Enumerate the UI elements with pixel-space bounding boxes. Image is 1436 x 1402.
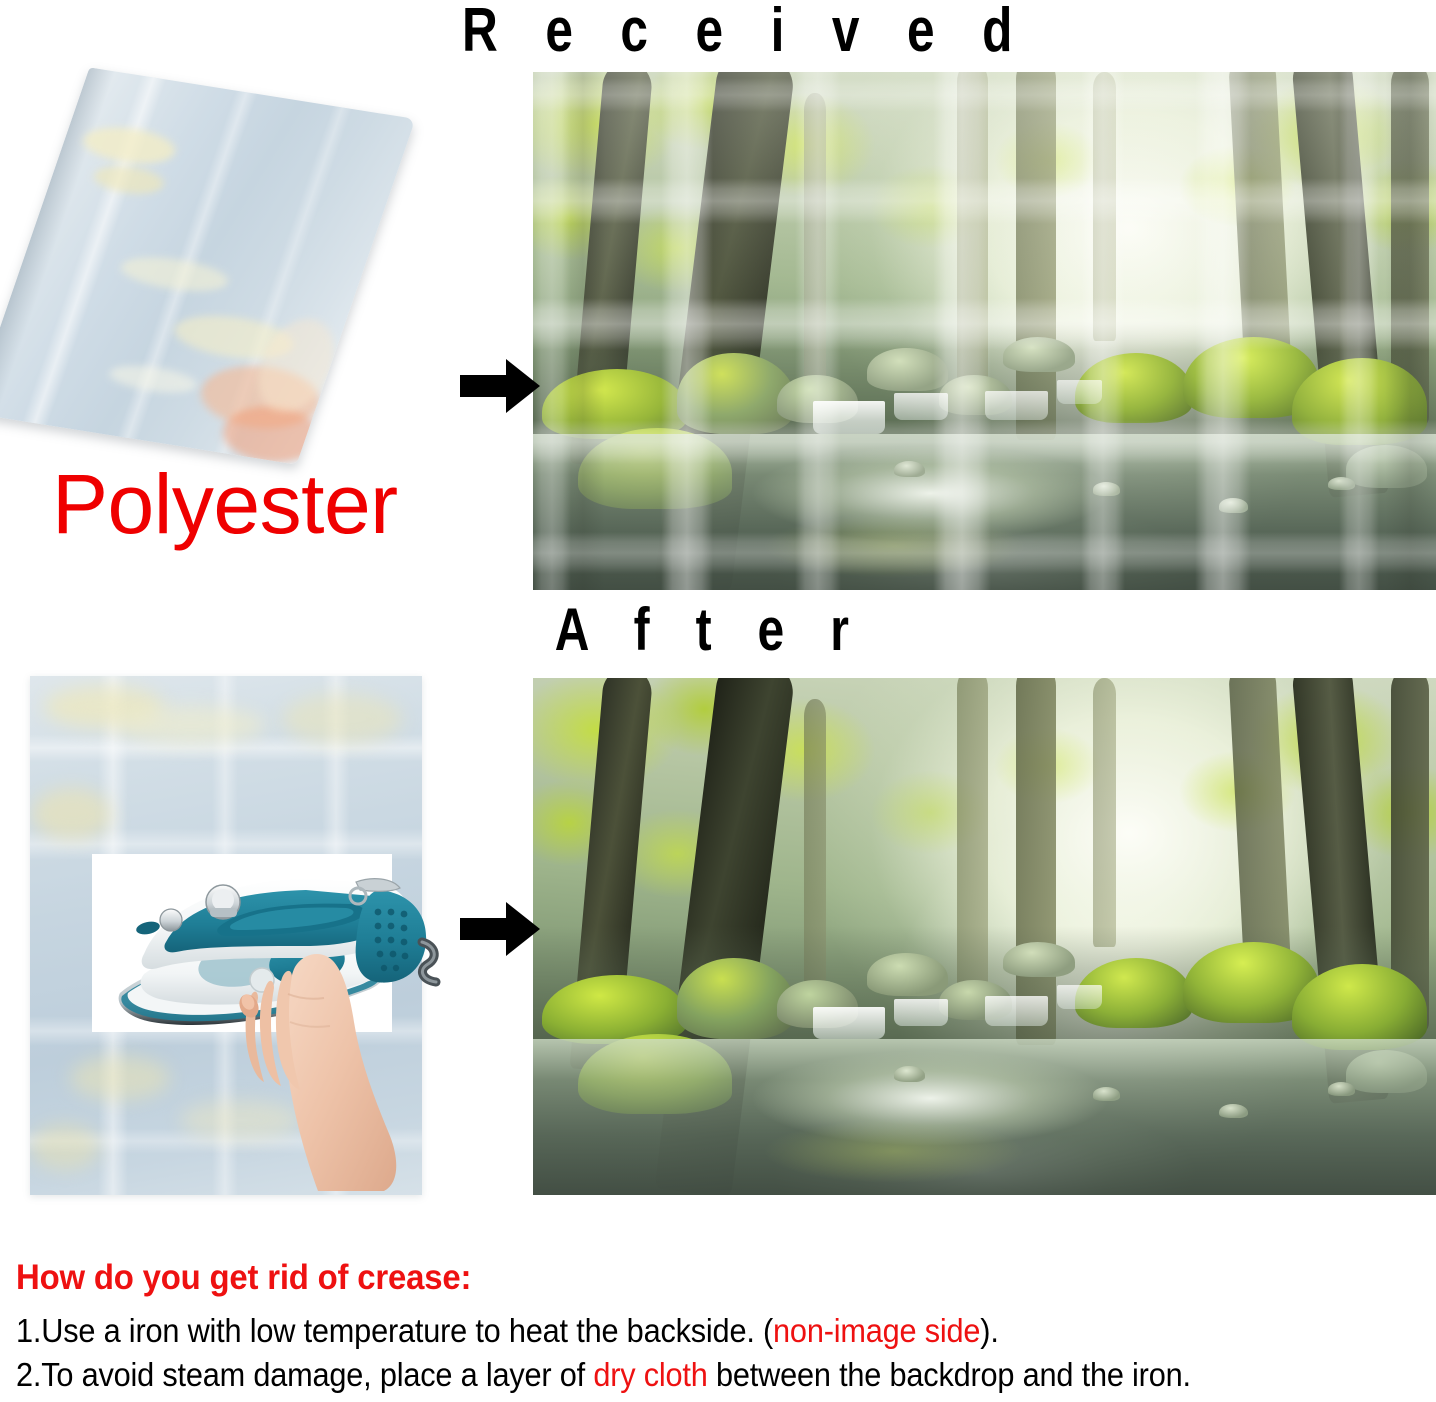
instructions-line-1: 1.Use a iron with low temperature to hea…	[16, 1309, 1331, 1353]
instructions-line-1-part-1: 1.Use a iron with low temperature to hea…	[16, 1312, 773, 1349]
rock	[894, 1066, 925, 1082]
rock	[867, 953, 948, 996]
after-heading: A f t e r	[502, 600, 918, 660]
care-instructions: How do you get rid of crease: 1.Use a ir…	[16, 1255, 1430, 1397]
print-bleed-stain	[30, 1124, 100, 1170]
polyester-label: Polyester	[52, 462, 398, 546]
waterfall	[894, 999, 948, 1026]
instructions-line-2-part-1: 2.To avoid steam damage, place a layer o…	[16, 1356, 593, 1393]
rock	[1093, 1087, 1120, 1100]
print-bleed-stain	[180, 1100, 300, 1140]
arrow-right-icon	[458, 898, 542, 960]
arrow-right-icon	[458, 355, 542, 417]
instructions-title: How do you get rid of crease:	[16, 1255, 1345, 1301]
instructions-line-1-highlight: non-image side	[773, 1312, 980, 1349]
after-backdrop-image	[533, 678, 1436, 1195]
polyester-fabric-swatch	[0, 67, 415, 464]
print-bleed-stain	[32, 788, 112, 840]
instructions-line-1-part-2: ).	[980, 1312, 998, 1349]
received-haze-veil	[533, 72, 1436, 590]
received-backdrop-image	[533, 72, 1436, 590]
iron-white-backing-card	[92, 854, 392, 1032]
rock	[1328, 1082, 1355, 1095]
rock	[1219, 1104, 1248, 1119]
instructions-line-2-part-2: between the backdrop and the iron.	[708, 1356, 1191, 1393]
stream-water	[533, 1039, 1436, 1195]
forest-riverbed-layer	[533, 926, 1436, 1195]
tree-trunk	[1093, 678, 1116, 947]
received-heading: R e c e i v e d	[462, 0, 958, 62]
print-bleed-stain	[70, 1056, 170, 1100]
print-bleed-stain	[282, 694, 402, 744]
waterfall	[985, 996, 1048, 1026]
waterfall	[813, 1007, 885, 1039]
waterfall	[1057, 985, 1102, 1009]
print-bleed-stain	[116, 706, 266, 744]
mossy-rock	[677, 958, 794, 1039]
instructions-line-2: 2.To avoid steam damage, place a layer o…	[16, 1353, 1331, 1397]
instructions-line-2-highlight: dry cloth	[593, 1356, 707, 1393]
rock	[1003, 942, 1075, 977]
